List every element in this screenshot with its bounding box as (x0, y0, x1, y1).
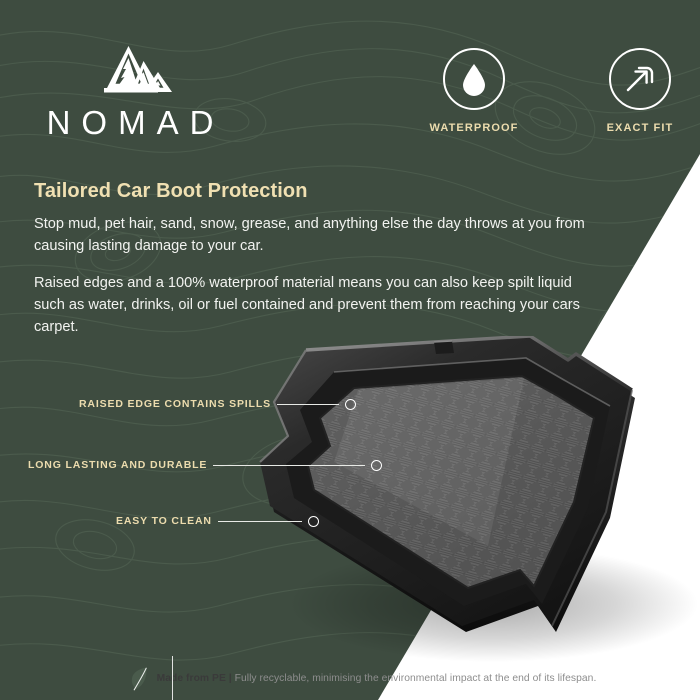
leader-line (277, 404, 339, 405)
footer-bar: Made from PE | Fully recyclable, minimis… (0, 656, 700, 700)
callout-long-lasting: LONG LASTING AND DURABLE (28, 459, 382, 471)
footer-text-rest: Fully recyclable, minimising the environ… (232, 673, 597, 684)
leader-line (218, 521, 302, 522)
car-boot-liner-tray (238, 336, 700, 666)
water-droplet-icon (460, 62, 488, 96)
brand-logo: NOMAD (26, 44, 236, 139)
callout-easy-to-clean: EASY TO CLEAN (116, 515, 319, 527)
leaf-icon (130, 666, 149, 691)
callout-label: EASY TO CLEAN (116, 515, 212, 527)
callout-raised-edge: RAISED EDGE CONTAINS SPILLS (79, 398, 356, 410)
infographic-canvas: NOMAD WATERPROOF (0, 0, 700, 700)
callout-marker-dot (371, 460, 382, 471)
footer-text: Made from PE | Fully recyclable, minimis… (157, 673, 597, 684)
leader-line (213, 465, 365, 466)
corner-arrow-icon (623, 62, 657, 96)
callout-label: RAISED EDGE CONTAINS SPILLS (79, 398, 271, 410)
badge-waterproof: WATERPROOF (418, 48, 530, 134)
body-paragraph-2: Raised edges and a 100% waterproof mater… (34, 272, 586, 339)
footer-text-bold: Made from PE | (157, 673, 232, 684)
badge-label: EXACT FIT (584, 122, 696, 134)
feature-badges: WATERPROOF EXACT FIT (418, 48, 696, 134)
brand-name: NOMAD (26, 106, 236, 139)
mountain-icon (88, 44, 174, 100)
badge-ring (609, 48, 671, 110)
callout-marker-dot (345, 399, 356, 410)
badge-ring (443, 48, 505, 110)
page-title: Tailored Car Boot Protection (34, 180, 308, 203)
badge-label: WATERPROOF (418, 122, 530, 134)
badge-exact-fit: EXACT FIT (584, 48, 696, 134)
callout-marker-dot (308, 516, 319, 527)
callout-label: LONG LASTING AND DURABLE (28, 459, 207, 471)
footer-divider (172, 656, 173, 700)
body-paragraph-1: Stop mud, pet hair, sand, snow, grease, … (34, 213, 586, 257)
